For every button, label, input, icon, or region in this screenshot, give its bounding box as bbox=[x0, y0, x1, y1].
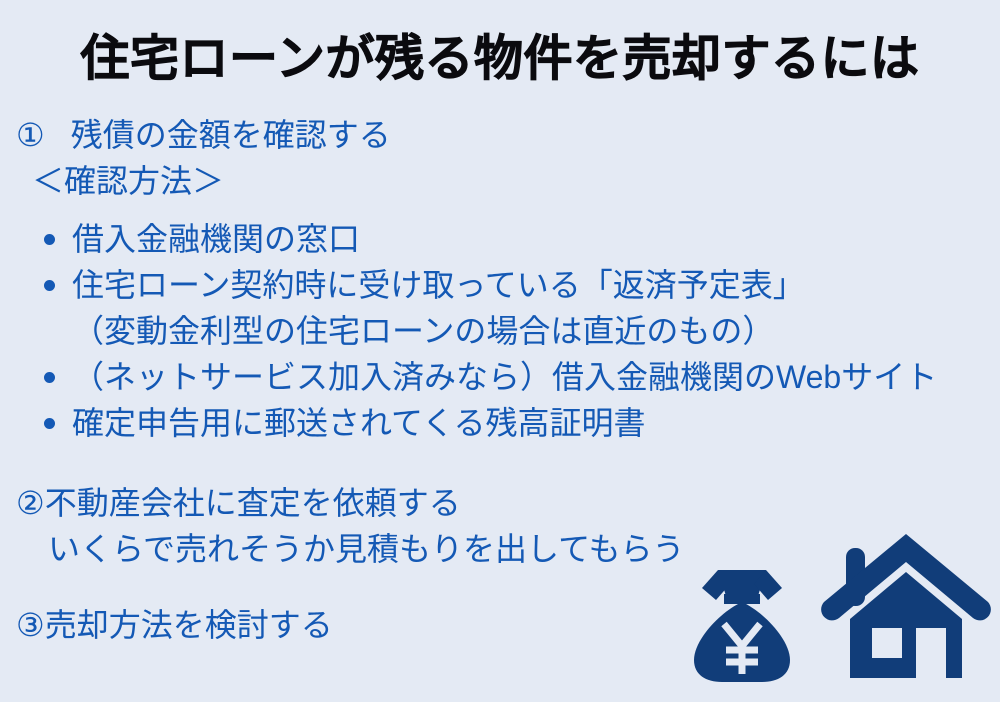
step1-number: ① bbox=[16, 117, 71, 153]
step1-heading-text: 残債の金額を確認する bbox=[71, 117, 391, 153]
house-icon bbox=[820, 528, 992, 684]
bullet-dot-icon bbox=[44, 418, 55, 429]
list-item: 借入金融機関の窓口 bbox=[0, 216, 1000, 262]
step3-number: ③ bbox=[16, 607, 45, 643]
step2-number: ② bbox=[16, 485, 45, 521]
list-item-label: （ネットサービス加入済みなら）借入金融機関のWebサイト bbox=[72, 359, 937, 395]
bullet-dot-icon bbox=[44, 234, 55, 245]
spacer bbox=[0, 446, 1000, 480]
step1-heading: ①残債の金額を確認する bbox=[0, 112, 1000, 158]
bullet-dot-icon bbox=[44, 372, 55, 383]
money-bag-yen-icon bbox=[686, 566, 798, 684]
list-item-label: 確定申告用に郵送されてくる残高証明書 bbox=[72, 405, 645, 441]
bullet-dot-icon bbox=[44, 280, 55, 291]
list-item-continuation: （変動金利型の住宅ローンの場合は直近のもの） bbox=[0, 308, 1000, 354]
list-item: 住宅ローン契約時に受け取っている「返済予定表」 bbox=[0, 262, 1000, 308]
spacer bbox=[0, 204, 1000, 216]
step2-heading-text: 不動産会社に査定を依頼する bbox=[45, 485, 461, 521]
step3-heading-text: 売却方法を検討する bbox=[45, 607, 333, 643]
page-title: 住宅ローンが残る物件を売却するには bbox=[0, 28, 1000, 90]
list-item-label: 住宅ローン契約時に受け取っている「返済予定表」 bbox=[72, 267, 805, 303]
step2-heading: ②不動産会社に査定を依頼する bbox=[0, 480, 1000, 526]
list-item: （ネットサービス加入済みなら）借入金融機関のWebサイト bbox=[0, 354, 1000, 400]
list-item: 確定申告用に郵送されてくる残高証明書 bbox=[0, 400, 1000, 446]
slide-canvas: 住宅ローンが残る物件を売却するには ①残債の金額を確認する ＜確認方法＞ 借入金… bbox=[0, 0, 1000, 702]
list-item-label: 借入金融機関の窓口 bbox=[72, 221, 360, 257]
step1-subheading: ＜確認方法＞ bbox=[0, 158, 1000, 204]
